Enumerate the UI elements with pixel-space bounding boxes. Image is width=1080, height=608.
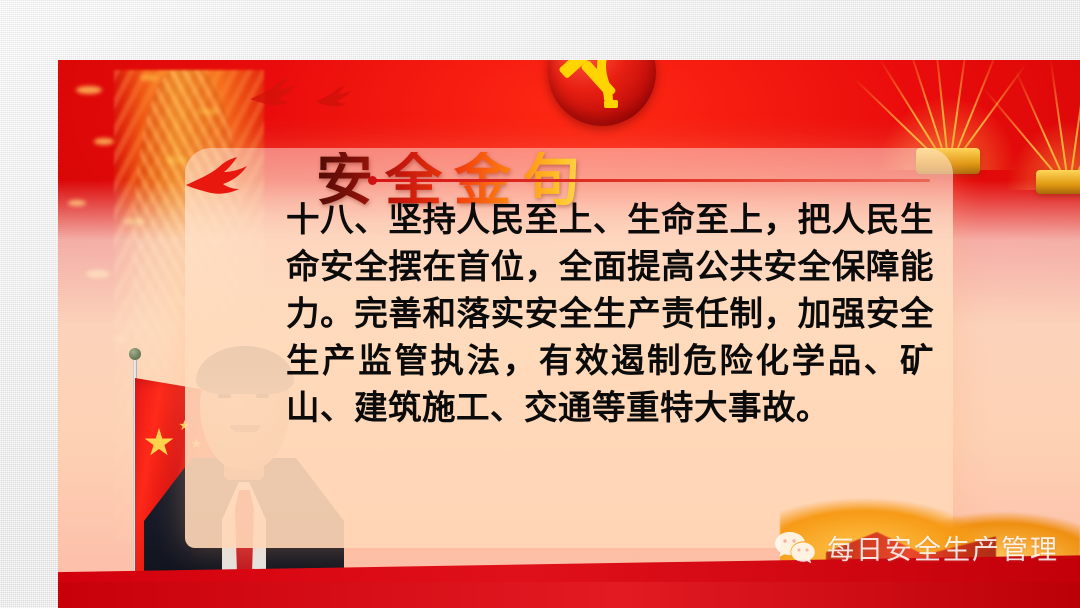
lantern-cap [1036,170,1080,194]
bottom-solid-band [58,582,1080,608]
wechat-logo-icon [774,531,816,565]
cpc-hammer-sickle-emblem [548,60,656,126]
quote-body-text: 十八、坚持人民至上、生命至上，把人民生命安全摆在首位，全面提高公共安全保障能力。… [286,197,934,431]
slide-page: 安全金句 十八、坚持人民至上、生命至上，把人民生命安全摆在首位，全面提高公共安全… [0,0,1080,608]
flying-dove-icon-2 [248,76,300,110]
watermark: 每日安全生产管理 [774,528,1059,567]
title-divider [373,179,930,182]
flying-dove-icon [183,155,253,199]
presentation-slide: 安全金句 十八、坚持人民至上、生命至上，把人民生命安全摆在首位，全面提高公共安全… [58,60,1080,608]
watermark-text: 每日安全生产管理 [827,528,1059,567]
flying-dove-icon-3 [314,84,354,110]
